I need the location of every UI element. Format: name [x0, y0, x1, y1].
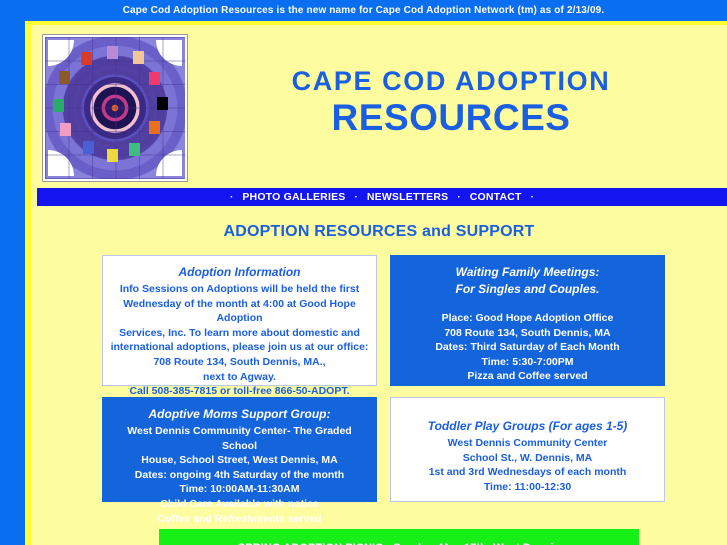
top-announcement-banner: Cape Cod Adoption Resources is the new n…	[0, 0, 727, 21]
box-line: Time: 10:00AM-11:30AM	[110, 482, 369, 497]
paper-doll-icon	[81, 52, 92, 65]
box-adoptive-moms-support-group: Adoptive Moms Support Group: West Dennis…	[102, 397, 377, 502]
box-line: Coffee and Refreshments served	[110, 512, 369, 527]
resource-boxes: Adoption Information Info Sessions on Ad…	[102, 255, 665, 513]
quilt-center-medallion	[84, 77, 146, 139]
nav-separator-dot: ·	[524, 192, 541, 203]
box-toddler-play-groups: Toddler Play Groups (For ages 1-5) West …	[390, 397, 665, 502]
box-line: Pizza and Coffee served	[398, 369, 657, 384]
box-line: 708 Route 134, South Dennis, MA	[398, 326, 657, 341]
site-title-line2: RESOURCES	[191, 97, 711, 139]
content-area: CAPE COD ADOPTION RESOURCES · PHOTO GALL…	[25, 21, 727, 545]
site-header: CAPE COD ADOPTION RESOURCES	[31, 25, 727, 180]
nav-separator-dot: ·	[450, 192, 467, 203]
box-line: School St., W. Dennis, MA	[398, 451, 657, 466]
box-line: Time: 11:00-12:30	[398, 480, 657, 495]
box-line: Child Care Available with notice	[110, 497, 369, 512]
paper-doll-icon	[157, 97, 168, 110]
quilt-corner-pinwheel	[156, 40, 182, 66]
box-line: Wednesday of the month at 4:00 at Good H…	[110, 297, 369, 326]
box-title: Adoption Information	[110, 264, 369, 281]
nav-item-label: PHOTO GALLERIES	[242, 191, 345, 203]
main-navigation: · PHOTO GALLERIES · NEWSLETTERS · CONTAC…	[37, 188, 727, 206]
nav-item-contact[interactable]: CONTACT	[468, 191, 524, 203]
box-title: Toddler Play Groups (For ages 1-5)	[398, 418, 657, 435]
paper-doll-icon	[107, 149, 118, 162]
paper-doll-icon	[53, 99, 64, 112]
box-line: Dates: ongoing 4th Saturday of the month	[110, 468, 369, 483]
paper-doll-icon	[149, 121, 160, 134]
nav-separator-dot: ·	[347, 192, 364, 203]
paper-doll-icon	[129, 143, 140, 156]
box-line: West Dennis Community Center	[398, 436, 657, 451]
site-title-block: CAPE COD ADOPTION RESOURCES	[191, 65, 711, 139]
paper-doll-icon	[133, 51, 144, 64]
paper-doll-icon	[149, 72, 160, 85]
box-line: West Dennis Community Center- The Graded…	[110, 424, 369, 453]
quilt-corner-pinwheel	[156, 150, 182, 176]
box-spacer	[398, 299, 657, 311]
quilt-corner-pinwheel	[48, 40, 74, 66]
box-line: next to Agway.	[110, 370, 369, 385]
adoption-quilt-logo	[42, 34, 188, 182]
box-line: international adoptions, please join us …	[110, 340, 369, 355]
box-adoption-information: Adoption Information Info Sessions on Ad…	[102, 255, 377, 386]
box-line: Place: Good Hope Adoption Office	[398, 311, 657, 326]
box-line: Time: 5:30-7:00PM	[398, 355, 657, 370]
box-waiting-family-meetings: Waiting Family Meetings: For Singles and…	[390, 255, 665, 386]
nav-item-newsletters[interactable]: NEWSLETTERS	[365, 191, 451, 203]
site-title-line1: CAPE COD ADOPTION	[191, 65, 711, 97]
box-title: Waiting Family Meetings:	[398, 264, 657, 281]
box-line: 708 Route 134, South Dennis, MA.,	[110, 355, 369, 370]
section-heading: ADOPTION RESOURCES and SUPPORT	[31, 223, 727, 241]
box-line: House, School Street, West Dennis, MA	[110, 453, 369, 468]
box-subtitle: For Singles and Couples.	[398, 281, 657, 298]
nav-item-photo-galleries[interactable]: PHOTO GALLERIES	[240, 191, 347, 203]
box-line: 1st and 3rd Wednesdays of each month	[398, 465, 657, 480]
paper-doll-icon	[59, 71, 70, 84]
top-announcement-text: Cape Cod Adoption Resources is the new n…	[123, 5, 605, 16]
box-line: Dates: Third Saturday of Each Month	[398, 340, 657, 355]
paper-doll-icon	[60, 123, 71, 136]
paper-doll-icon	[107, 46, 118, 59]
box-title: Adoptive Moms Support Group:	[110, 406, 369, 423]
box-spacer	[398, 406, 657, 418]
box-line: Info Sessions on Adoptions will be held …	[110, 282, 369, 297]
nav-item-label: NEWSLETTERS	[367, 191, 449, 203]
quilt-corner-pinwheel	[48, 150, 74, 176]
quilt-artwork	[45, 37, 185, 179]
nav-item-label: CONTACT	[470, 191, 522, 203]
paper-doll-icon	[83, 141, 94, 154]
box-line: Services, Inc. To learn more about domes…	[110, 326, 369, 341]
page-root: Cape Cod Adoption Resources is the new n…	[0, 0, 727, 545]
green-announcement-text: SPRING ADOPTION PICNIC - Sunday, May 17t…	[159, 529, 639, 545]
green-announcement-bar: SPRING ADOPTION PICNIC - Sunday, May 17t…	[159, 529, 639, 545]
nav-separator-dot: ·	[223, 192, 240, 203]
